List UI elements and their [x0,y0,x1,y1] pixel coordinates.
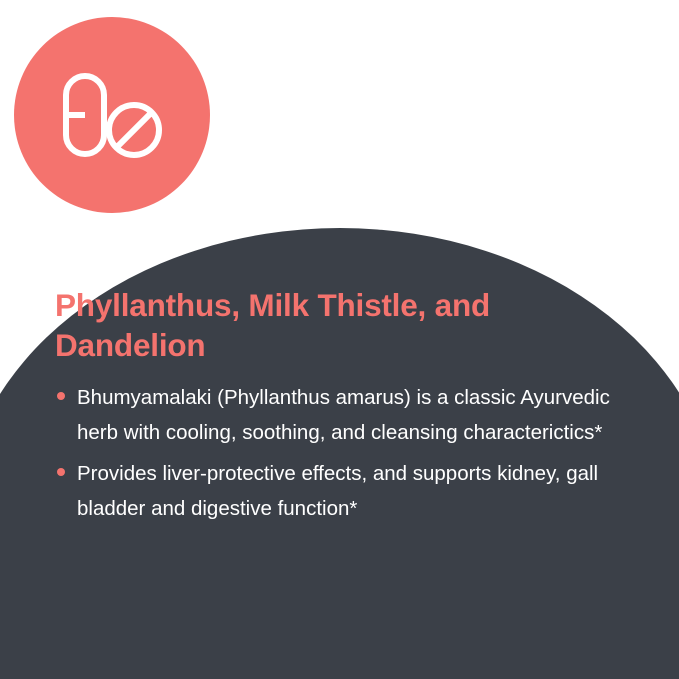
bullet-dot-icon [57,468,65,476]
pill-capsule-and-tablet-icon [60,71,164,159]
list-item-text: Provides liver-protective effects, and s… [77,462,598,520]
supplement-badge [14,17,210,213]
benefits-list: Bhumyamalaki (Phyllanthus amarus) is a c… [55,380,640,527]
card-content: Phyllanthus, Milk Thistle, and Dandelion… [55,285,640,533]
list-item: Provides liver-protective effects, and s… [55,456,637,527]
list-item: Bhumyamalaki (Phyllanthus amarus) is a c… [55,380,637,451]
page-title: Phyllanthus, Milk Thistle, and Dandelion [55,285,545,366]
product-info-graphic: Phyllanthus, Milk Thistle, and Dandelion… [0,0,679,679]
list-item-text: Bhumyamalaki (Phyllanthus amarus) is a c… [77,386,610,444]
bullet-dot-icon [57,392,65,400]
